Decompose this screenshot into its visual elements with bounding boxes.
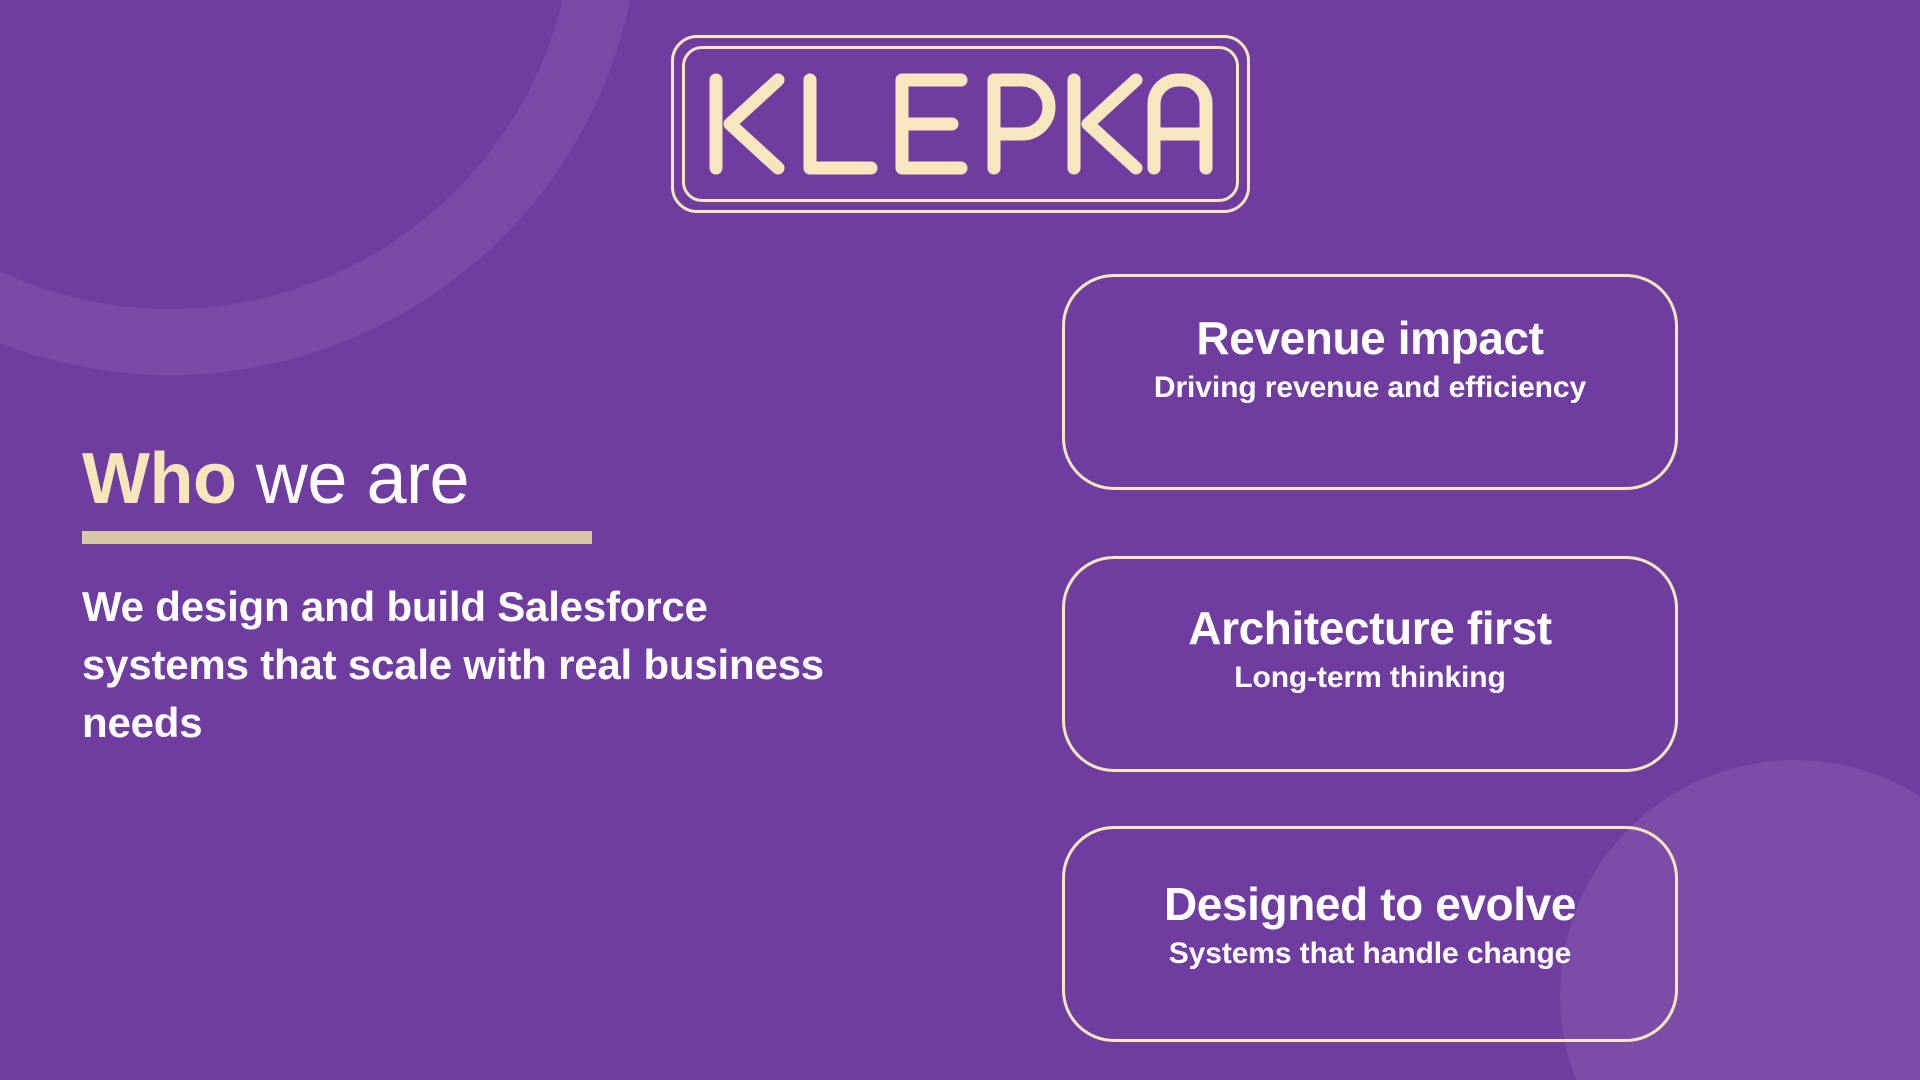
headline-rest: we are [236,439,469,519]
intro-paragraph: We design and build Salesforce systems t… [82,578,882,752]
card-title: Architecture first [1188,603,1551,654]
headline-underline [82,531,592,544]
slide-canvas: Who we are We design and build Salesforc… [0,0,1920,1080]
intro-block: Who we are We design and build Salesforc… [82,443,922,752]
card-subtitle: Systems that handle change [1169,936,1572,972]
card-title: Designed to evolve [1164,879,1576,930]
pillar-card-architecture-first[interactable]: Architecture first Long-term thinking [1062,556,1678,772]
klepka-wordmark-icon [706,70,1216,178]
page-title: Who we are [82,443,922,515]
brand-logo [671,35,1250,213]
decorative-ring-top-left [0,0,640,375]
pillar-card-revenue-impact[interactable]: Revenue impact Driving revenue and effic… [1062,274,1678,490]
pillar-card-designed-to-evolve[interactable]: Designed to evolve Systems that handle c… [1062,826,1678,1042]
card-subtitle: Long-term thinking [1234,660,1506,696]
card-title: Revenue impact [1196,313,1543,364]
headline-accent-word: Who [82,439,236,519]
card-subtitle: Driving revenue and efficiency [1154,370,1586,406]
